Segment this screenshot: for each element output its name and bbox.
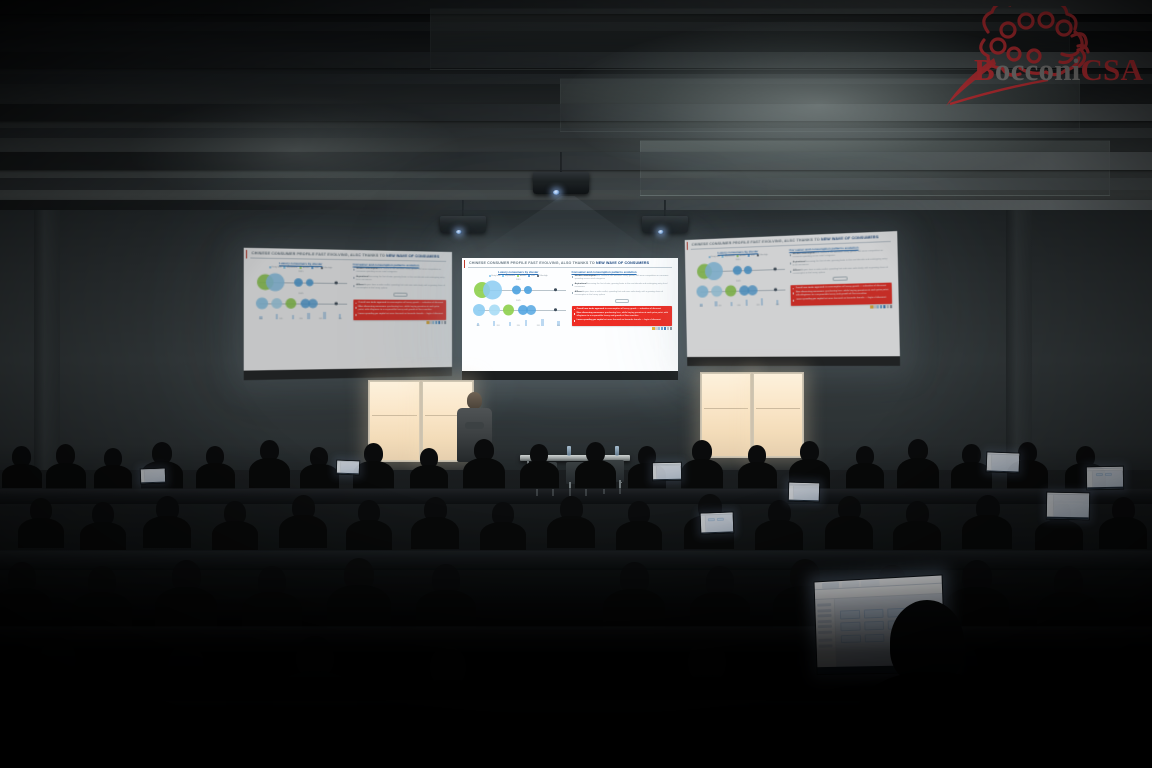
browser-tab[interactable] — [841, 581, 859, 587]
laptop-screen[interactable] — [652, 462, 682, 482]
analysis-bullet: Aspirational becoming the first cluster,… — [353, 276, 446, 283]
laptop[interactable] — [652, 462, 682, 482]
year-label-future: 2025 — [468, 300, 569, 302]
year-label-past: 2015 — [468, 279, 569, 281]
browser-tab[interactable] — [861, 580, 879, 587]
analysis-heading: Consumer and consumption patterns evolut… — [353, 262, 446, 268]
chart-legend: Entry level Aspirational Affluent Rich U… — [468, 275, 569, 277]
lecture-hall-photo: CHINESE CONSUMER PROFILE FAST EVOLVING, … — [0, 0, 1152, 768]
bubble-row-future — [250, 295, 349, 310]
analysis-bullet: Affluent buyers have a wider wallet, spe… — [572, 291, 673, 297]
laptop[interactable] — [1046, 492, 1090, 521]
laptop-screen[interactable] — [700, 511, 735, 534]
file-tile[interactable] — [840, 622, 860, 631]
title-accent-bar — [246, 250, 247, 259]
laptop[interactable] — [140, 468, 167, 485]
file-tile[interactable] — [864, 633, 885, 642]
arrow-annotation — [572, 299, 673, 304]
bubble-row-future — [468, 303, 569, 318]
analysis-bullet: Affluent buyers have a wider wallet, spe… — [353, 284, 446, 291]
mini-axis-labels: 20102015 20202025 2030 — [250, 319, 349, 320]
presenter-head — [467, 392, 482, 409]
analysis-bullet: Western consumption mix shifted to non d… — [353, 268, 446, 275]
mini-bar-chart — [250, 311, 349, 318]
laptop[interactable] — [700, 511, 735, 534]
bubble-row-past — [691, 260, 787, 280]
analysis-bullet: Western consumption mix shifted to non d… — [572, 275, 673, 281]
bubble-row-past — [468, 282, 569, 299]
laptop[interactable] — [336, 460, 361, 476]
title-accent-bar — [464, 260, 465, 268]
mini-bar-chart — [468, 319, 569, 326]
title-divider — [468, 267, 672, 268]
file-tile[interactable] — [864, 621, 885, 630]
analysis-bullet: Affluent buyers have a wider wallet, spe… — [790, 267, 892, 276]
projection-screen-right: CHINESE CONSUMER PROFILE FAST EVOLVING, … — [685, 231, 900, 366]
slide-left: CHINESE CONSUMER PROFILE FAST EVOLVING, … — [244, 248, 452, 381]
slide-right: CHINESE CONSUMER PROFILE FAST EVOLVING, … — [685, 231, 900, 366]
analysis-heading: Consumer and consumption patterns evolut… — [572, 270, 673, 274]
laptop-screen[interactable] — [140, 468, 167, 485]
analysis-bullet: Aspirational becoming the first cluster,… — [572, 283, 673, 289]
bubble-row-past — [250, 273, 349, 292]
brand-first-rest: occoni — [995, 52, 1081, 87]
file-tile[interactable] — [841, 634, 861, 643]
ceiling-slat — [0, 128, 1152, 138]
chart-heading: Luxury consumers by cluster — [250, 260, 349, 266]
mini-axis-labels: 20102015 20202025 2030 — [468, 326, 569, 327]
file-tile[interactable] — [840, 610, 860, 619]
sidebar[interactable] — [815, 599, 837, 668]
color-strip — [572, 327, 673, 330]
color-strip — [353, 321, 446, 325]
laptop-screen[interactable] — [1086, 466, 1124, 491]
arrow-annotation — [353, 292, 446, 298]
chart-heading: Luxury consumers by cluster — [468, 270, 569, 274]
color-strip — [790, 305, 892, 310]
laptop[interactable] — [1086, 466, 1124, 491]
projection-screen-left: CHINESE CONSUMER PROFILE FAST EVOLVING, … — [244, 248, 452, 381]
title-accent-bar — [687, 242, 688, 250]
watermark-logo: BocconiCSA — [922, 6, 1150, 110]
breadcrumb — [840, 600, 898, 606]
laptop-screen[interactable] — [986, 451, 1021, 473]
watermark-text: BocconiCSA — [974, 52, 1143, 88]
presenter-arms — [465, 422, 484, 429]
bubble-row-future — [691, 282, 787, 299]
browser-tab[interactable] — [822, 583, 839, 589]
projection-screen-center: CHINESE CONSUMER PROFILE FAST EVOLVING, … — [462, 258, 678, 380]
slide-title: CHINESE CONSUMER PROFILE FAST EVOLVING, … — [466, 261, 674, 265]
shoulder-silhouette — [856, 672, 1006, 768]
screen-bottom-bar — [687, 356, 900, 366]
slide-center: CHINESE CONSUMER PROFILE FAST EVOLVING, … — [462, 258, 678, 380]
laptop-screen[interactable] — [1046, 492, 1090, 521]
laptop[interactable] — [788, 482, 821, 503]
key-takeaway-callout: Overall new tactic approach to consumpti… — [572, 306, 673, 326]
key-takeaway-callout: Overall new tactic approach to consumpti… — [353, 299, 446, 320]
bench-desk — [0, 626, 1152, 652]
ceiling-beam — [0, 152, 1152, 170]
file-tile[interactable] — [864, 609, 885, 618]
key-takeaway-callout: Overall new tactic approach to consumpti… — [790, 282, 892, 306]
laptop-screen[interactable] — [788, 482, 821, 503]
laptop-screen[interactable] — [336, 460, 361, 476]
laptop[interactable] — [986, 451, 1021, 473]
screen-bottom-bar — [462, 371, 678, 380]
